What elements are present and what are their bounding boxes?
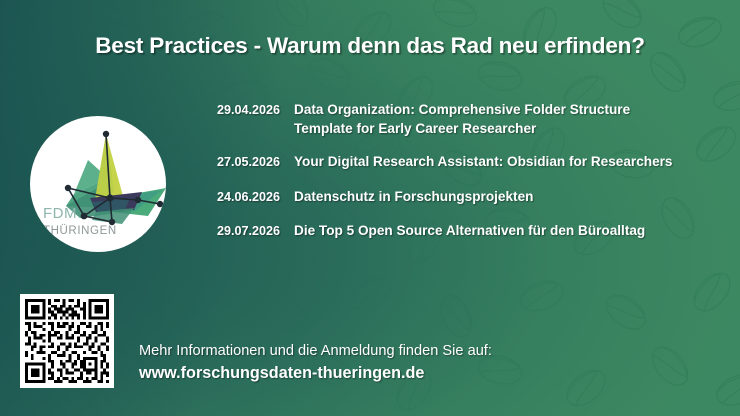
event-title-line: Datenschutz in Forschungsprojekten (294, 188, 533, 207)
list-item: 27.05.2026 Your Digital Research Assista… (186, 153, 726, 172)
poster-root: Best Practices - Warum denn das Rad neu … (0, 0, 740, 416)
qr-code[interactable] (20, 294, 114, 388)
fdm-thueringen-logo: FDM THÜRINGEN (30, 116, 166, 252)
event-title: Your Digital Research Assistant: Obsidia… (294, 153, 672, 172)
event-title-line: Data Organization: Comprehensive Folder … (294, 101, 630, 120)
event-title-line: Die Top 5 Open Source Alternativen für d… (294, 222, 645, 241)
list-item: 24.06.2026 Datenschutz in Forschungsproj… (186, 188, 726, 207)
sailboat-network-icon: FDM THÜRINGEN (30, 116, 166, 252)
event-date: 29.04.2026 (186, 101, 280, 120)
event-title: Datenschutz in Forschungsprojekten (294, 188, 533, 207)
event-date: 27.05.2026 (186, 153, 280, 172)
event-date: 29.07.2026 (186, 222, 280, 241)
qr-code-icon (25, 299, 109, 383)
page-title: Best Practices - Warum denn das Rad neu … (0, 33, 740, 59)
event-title-line: Your Digital Research Assistant: Obsidia… (294, 153, 672, 172)
event-list: 29.04.2026 Data Organization: Comprehens… (186, 101, 726, 241)
footer: Mehr Informationen und die Anmeldung fin… (139, 340, 492, 385)
logo-text-fdm: FDM (43, 205, 77, 222)
event-date: 24.06.2026 (186, 188, 280, 207)
logo-text-thueringen: THÜRINGEN (43, 225, 117, 237)
event-title: Data Organization: Comprehensive Folder … (294, 101, 630, 138)
footer-info-text: Mehr Informationen und die Anmeldung fin… (139, 340, 492, 362)
footer-website-url[interactable]: www.forschungsdaten-thueringen.de (139, 362, 492, 385)
event-title: Die Top 5 Open Source Alternativen für d… (294, 222, 645, 241)
event-title-line: Template for Early Career Researcher (294, 120, 630, 139)
list-item: 29.04.2026 Data Organization: Comprehens… (186, 101, 726, 138)
list-item: 29.07.2026 Die Top 5 Open Source Alterna… (186, 222, 726, 241)
